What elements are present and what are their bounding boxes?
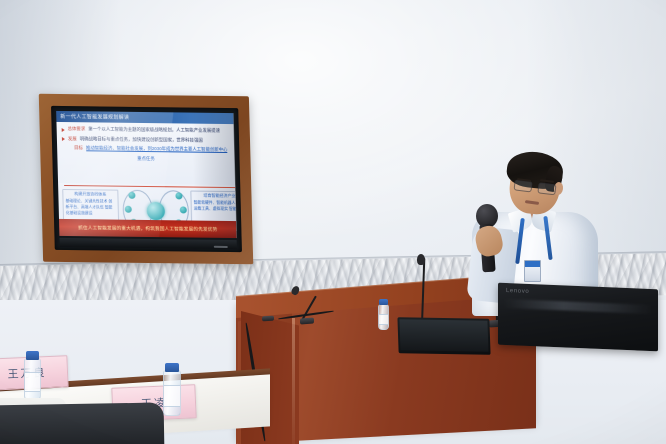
gooseneck-mic-head	[417, 254, 425, 265]
bullet-tag: 发展	[68, 136, 77, 142]
name-badge	[524, 260, 541, 282]
diagram-node	[125, 206, 132, 213]
bottle-cap	[165, 363, 179, 372]
display-base-strip	[60, 238, 237, 249]
bottle-label	[164, 385, 180, 407]
bottle-cap	[379, 299, 388, 305]
diagram-node	[175, 192, 182, 199]
mic-base	[300, 318, 314, 325]
podium-front-edge	[292, 318, 295, 444]
chair-back-dark	[0, 402, 164, 444]
bottle-cap	[26, 351, 39, 360]
water-bottle-podium	[378, 304, 389, 330]
slide-bullet-row: 目标 推动智能经济、智能社会发展，到2030年成为世界主要人工智能创新中心	[62, 145, 229, 154]
laptop-lid-reflection	[504, 299, 651, 314]
lenovo-brand-label: Lenovo	[506, 288, 529, 295]
slide-bullet-area: 总体要求 第一个以人工智能为主题的国家级战略规划，人工智能产业发展提速 发展 明…	[56, 122, 235, 188]
slide-bullet-row: 总体要求 第一个以人工智能为主题的国家级战略规划，人工智能产业发展提速	[62, 126, 229, 135]
bullet-text-secondary: 推动智能经济、智能社会发展，到2030年成为世界主要人工智能创新中心	[86, 146, 228, 154]
slide-title: 新一代人工智能发展规划解读	[60, 112, 129, 120]
diagram-divider	[64, 185, 236, 188]
lenovo-laptop-lid[interactable]: Lenovo	[498, 283, 658, 352]
bullet-tag: 总体要求	[68, 126, 86, 132]
slide: 新一代人工智能发展规划解读 总体要求 第一个以人工智能为主题的国家级战略规划，人…	[56, 111, 236, 238]
badge-header-strip	[525, 261, 540, 267]
display-wood-frame: 新一代人工智能发展规划解读 总体要求 第一个以人工智能为主题的国家级战略规划，人…	[39, 94, 254, 265]
bottle-label	[25, 372, 40, 392]
diagram-hub	[147, 202, 165, 220]
bottle-label	[379, 314, 388, 325]
water-bottle-2	[163, 370, 181, 416]
display-bezel: 新一代人工智能发展规划解读 总体要求 第一个以人工智能为主题的国家级战略规划，人…	[51, 106, 242, 252]
slide-banner: 抓住人工智能发展的重大机遇，构筑我国人工智能发展的先发优势	[59, 219, 237, 238]
slide-bullet-row: 发展 明确战略目标与重点任务，加快建设创新型国家，世界科技强国	[62, 136, 229, 145]
diagram-right-lines: 智能软硬件、智能机器人 智能运载工具、虚拟现实 智能终端	[192, 199, 237, 214]
water-bottle-1	[24, 358, 41, 400]
mic-base	[262, 316, 274, 322]
conference-photo: 新一代人工智能发展规划解读 总体要求 第一个以人工智能为主题的国家级战略规划，人…	[0, 0, 666, 444]
glasses-lens-right	[537, 182, 556, 195]
diagram-left-lines: 基础理论、关键共性技术 创新平台、高端人才队伍 智能化基础设施建设	[63, 197, 118, 218]
slide-center-label: 重点任务	[62, 155, 229, 163]
podium-laptop[interactable]	[397, 317, 490, 355]
presentation-screen[interactable]: 新一代人工智能发展规划解读 总体要求 第一个以人工智能为主题的国家级战略规划，人…	[56, 111, 236, 238]
bullet-marker-icon	[62, 137, 65, 141]
diagram-node	[180, 206, 187, 213]
slide-banner-text: 抓住人工智能发展的重大机遇，构筑我国人工智能发展的先发优势	[78, 225, 217, 233]
bullet-text: 明确战略目标与重点任务，加快建设创新型国家，世界科技强国	[80, 136, 203, 144]
bullet-tag-secondary: 目标	[74, 145, 83, 151]
display-brand-logo-icon	[214, 246, 228, 248]
diagram-node	[128, 192, 135, 199]
podium-laptop-screen	[399, 319, 488, 352]
bullet-text: 第一个以人工智能为主题的国家级战略规划，人工智能产业发展提速	[88, 126, 220, 134]
bullet-marker-icon	[62, 128, 65, 132]
